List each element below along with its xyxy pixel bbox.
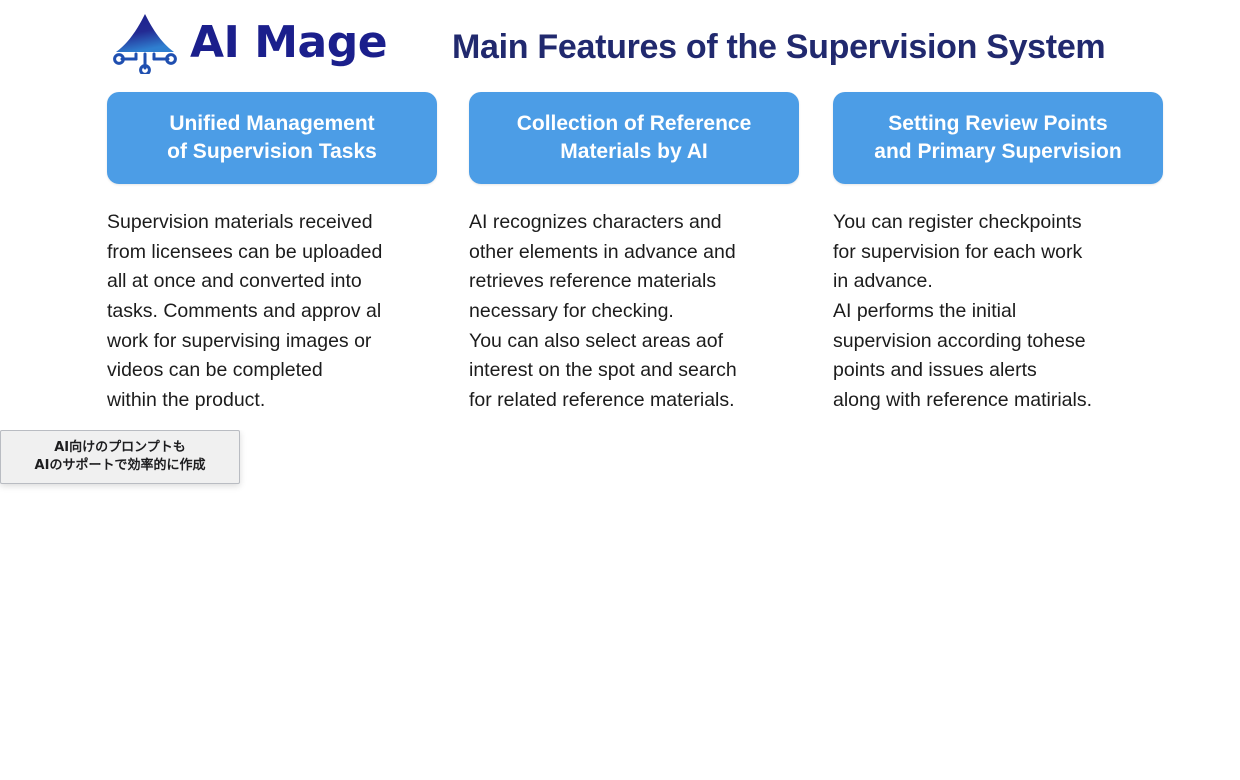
- feature-column-3: Setting Review Points and Primary Superv…: [833, 92, 1163, 415]
- wizard-hat-circuit-icon: [110, 12, 180, 74]
- feature-description-2: AI recognizes characters and other eleme…: [469, 208, 799, 415]
- feature-badge-reference-collection[interactable]: Collection of Reference Materials by AI: [469, 92, 799, 184]
- feature-description-1: Supervision materials received from lice…: [107, 208, 437, 415]
- feature-columns: Unified Management of Supervision Tasks …: [0, 92, 1240, 432]
- feature-column-1: Unified Management of Supervision Tasks …: [107, 92, 437, 415]
- feature-badge-unified-management[interactable]: Unified Management of Supervision Tasks: [107, 92, 437, 184]
- page-header: AI Mage Main Features of the Supervision…: [0, 0, 1240, 88]
- feature-badge-review-points[interactable]: Setting Review Points and Primary Superv…: [833, 92, 1163, 184]
- brand-logo: AI Mage: [110, 12, 387, 74]
- prompt-callout: AI向けのプロンプトも AIのサポートで効率的に作成: [0, 430, 240, 484]
- screenshot-mockups: タスクファイルアップロード確認 全 一括解除 Gemini_Generated_…: [0, 430, 1240, 780]
- brand-name: AI Mage: [190, 21, 387, 65]
- page-title: Main Features of the Supervision System: [452, 28, 1105, 67]
- callout-text: AI向けのプロンプトも AIのサポートで効率的に作成: [35, 439, 206, 474]
- feature-description-3: You can register checkpoints for supervi…: [833, 208, 1163, 415]
- feature-column-2: Collection of Reference Materials by AI …: [469, 92, 799, 415]
